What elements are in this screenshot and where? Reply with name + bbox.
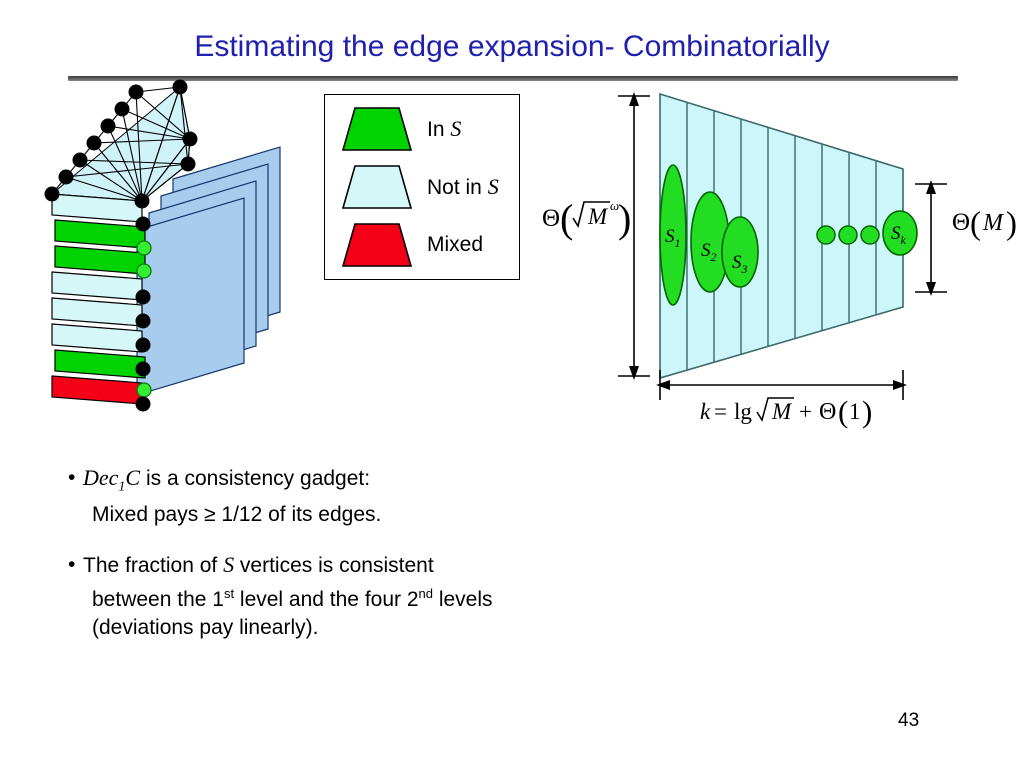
bullet-marker: • [68,551,82,579]
bullet-seg: vertices is consistent [234,554,434,577]
fan-node [101,119,116,134]
legend-item-in-s: In S [325,101,521,157]
sqrt-m-glyph: M [757,398,794,424]
svg-text:+: + [799,399,812,424]
sqrt-m-glyph: M [573,202,610,229]
layer-slab-8 [52,376,142,404]
bullet-consistency-gadget: • Dec1C is a consistency gadget: Mixed p… [68,464,748,529]
fan-node [45,187,60,202]
svg-text:M: M [587,204,609,229]
layer-slab-5 [52,298,142,326]
bullet-seg: levels [433,588,493,611]
bullet-fraction-consistent: • The fraction of S vertices is consiste… [68,551,748,642]
node-green [137,241,151,255]
ellipsis-dot-2 [839,226,857,244]
svg-text:Θ: Θ [819,399,836,425]
svg-text:Θ: Θ [952,209,970,236]
svg-text:lg: lg [734,399,752,424]
svg-text:): ) [618,196,631,241]
svg-text:1: 1 [849,399,861,424]
layer-stack-diagram [30,64,330,404]
fan-node [183,132,198,147]
bullet-line: Dec1C is a consistency gadget: [83,464,748,501]
node-black [136,217,151,232]
bullet-seg: level and the four 2 [234,588,418,611]
node-black [136,338,151,353]
left-height-label: Θ ( M ω ) [542,188,638,250]
right-height-arrow [915,180,947,296]
svg-text:(: ( [560,196,573,241]
s-symbol: S [223,552,234,577]
blue-panel-1 [137,198,244,395]
fan-node [181,157,196,172]
node-green [137,383,151,397]
legend-item-mixed: Mixed [325,217,521,273]
svg-text:M: M [982,210,1005,236]
node-black [136,397,151,412]
svg-text:k: k [700,399,711,424]
legend-swatch-mixed [341,222,413,268]
bullet-line: (deviations pay linearly). [83,614,748,642]
ordinal-nd: nd [419,586,433,601]
bullet-line-tail: is a consistency gadget: [140,467,370,490]
layer-slab-3 [55,246,145,274]
layer-slab-2 [55,220,145,248]
legend-swatch-not-in-s [341,164,413,210]
ellipsis-dot-1 [817,226,835,244]
layer-slab-6 [52,324,142,352]
page-title: Estimating the edge expansion- Combinato… [0,30,1024,64]
legend: In S Not in S Mixed [324,94,520,280]
fan-node [73,153,88,168]
ordinal-st: st [224,586,234,601]
bullet-seg: The fraction of [83,554,223,577]
bullet-seg: between the 1 [92,588,224,611]
layer-slab-7 [55,350,145,378]
node-black [136,314,151,329]
legend-swatch-in-s [341,106,413,152]
page-number: 43 [898,710,919,732]
right-height-label: Θ ( M ) [952,200,1024,244]
svg-text:): ) [1006,206,1017,242]
bottom-width-label: k = lg M + Θ ( 1 ) [700,392,910,434]
svg-text:(: ( [970,206,981,242]
node-black [135,194,150,209]
svg-text:(: ( [838,394,848,429]
svg-text:Θ: Θ [542,205,560,232]
legend-item-not-in-s: Not in S [325,159,521,215]
fan-node [115,102,130,117]
bullet-line: Mixed pays ≥ 1/12 of its edges. [83,501,748,529]
bullet-list: • Dec1C is a consistency gadget: Mixed p… [68,464,748,664]
fan-node [129,85,144,100]
svg-text:=: = [714,399,727,424]
fan-node [173,80,188,95]
bullet-line: between the 1st level and the four 2nd l… [83,580,748,614]
node-black [136,290,151,305]
node-green [137,264,151,278]
ellipsis-dot-3 [861,226,879,244]
fan-node [59,170,74,185]
bullet-text: Dec1C is a consistency gadget: Mixed pay… [68,464,748,529]
fan-node [87,136,102,151]
node-black [136,362,151,377]
legend-label-not-in-s: Not in S [427,174,499,200]
dec-gadget-symbol: Dec1C [83,465,140,490]
layer-slab-4 [52,272,142,300]
layer-slab-group [52,194,145,404]
bullet-line: The fraction of S vertices is consistent [83,551,748,580]
funnel-diagram: S1 S2 S3 Sk [540,80,1024,440]
svg-text:M: M [771,399,793,424]
bullet-marker: • [68,464,82,492]
legend-label-in-s: In S [427,116,461,142]
svg-text:): ) [862,394,872,429]
bullet-text: The fraction of S vertices is consistent… [68,551,748,642]
legend-label-mixed: Mixed [427,233,483,257]
